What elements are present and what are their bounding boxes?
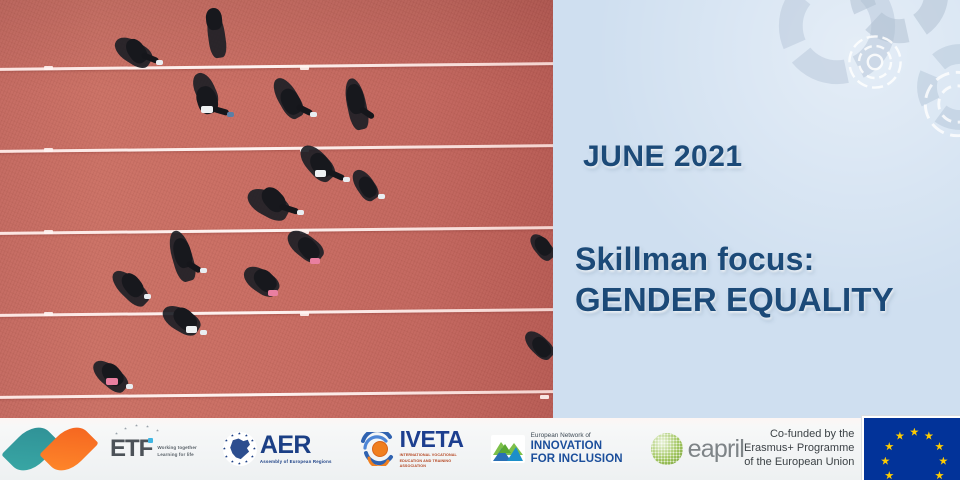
- aer-europe-map-icon: [223, 432, 257, 466]
- etf-tagline: Working together Learning for life: [157, 445, 197, 461]
- running-track-photo: [0, 0, 553, 418]
- eu-cofunding-block: Co-funded by the Erasmus+ Programme of t…: [744, 416, 960, 480]
- headline-date: JUNE 2021: [583, 140, 743, 174]
- eu-text-line-3: of the European Union: [744, 456, 854, 470]
- skillman-newsletter-banner: JUNE 2021 Skillman focus: GENDER EQUALIT…: [0, 0, 960, 480]
- etf-tagline-line-2: Learning for life: [157, 452, 197, 459]
- iveta-logo[interactable]: IVETA INTERNATIONAL VOCATIONAL EDUCATION…: [360, 428, 464, 469]
- lane-tick: [540, 395, 549, 399]
- eapril-logo[interactable]: eapril: [651, 433, 744, 465]
- eni-mountain-icon: [490, 433, 526, 465]
- skillman-logo[interactable]: [14, 424, 86, 474]
- iveta-globe-hands-icon: [360, 432, 396, 466]
- lane-tick: [44, 230, 53, 234]
- aer-logo[interactable]: AER Assembly of European Regions: [223, 432, 332, 466]
- lane-tick: [44, 66, 53, 70]
- iveta-tagline: INTERNATIONAL VOCATIONAL EDUCATION AND T…: [400, 453, 464, 469]
- european-network-innovation-inclusion-logo[interactable]: European Network of INNOVATION FOR INCLU…: [490, 432, 623, 466]
- headline-main: Skillman focus: GENDER EQUALITY: [575, 240, 894, 321]
- iveta-wordmark: IVETA: [400, 428, 464, 451]
- panel-text-block: JUNE 2021 Skillman focus: GENDER EQUALIT…: [553, 0, 960, 418]
- eu-text-line-2: Erasmus+ Programme: [744, 442, 854, 456]
- lane-tick: [44, 148, 53, 152]
- etf-tagline-line-1: Working together: [157, 445, 197, 452]
- lane-tick: [300, 66, 309, 70]
- leaf-orange-icon: [39, 419, 98, 478]
- eni-word-line-1: INNOVATION: [531, 440, 623, 453]
- lane-tick: [44, 312, 53, 316]
- eni-word-line-2: FOR INCLUSION: [531, 453, 623, 466]
- etf-dot-icon: [148, 438, 153, 443]
- eapril-globe-icon: [651, 433, 683, 465]
- aer-tagline: Assembly of European Regions: [260, 459, 332, 464]
- european-union-flag-icon: [862, 416, 960, 480]
- etf-logo[interactable]: ETF Working together Learning for life: [110, 437, 197, 461]
- eni-supertitle: European Network of: [531, 432, 623, 440]
- eu-cofunding-text: Co-funded by the Erasmus+ Programme of t…: [744, 428, 854, 469]
- lane-tick: [300, 312, 309, 316]
- etf-stars-icon: [113, 424, 169, 437]
- eapril-wordmark: eapril: [688, 437, 744, 462]
- hero-region: JUNE 2021 Skillman focus: GENDER EQUALIT…: [0, 0, 960, 418]
- iveta-tagline-line-3: ASSOCIATION: [400, 464, 464, 469]
- headline-line-1: Skillman focus:: [575, 241, 815, 277]
- eu-text-line-1: Co-funded by the: [744, 428, 854, 442]
- etf-wordmark: ETF: [110, 437, 152, 461]
- aer-wordmark: AER: [260, 434, 332, 458]
- info-panel: JUNE 2021 Skillman focus: GENDER EQUALIT…: [553, 0, 960, 418]
- partner-logo-bar: ETF Working together Learning for life: [0, 418, 960, 480]
- headline-line-2: GENDER EQUALITY: [575, 280, 894, 321]
